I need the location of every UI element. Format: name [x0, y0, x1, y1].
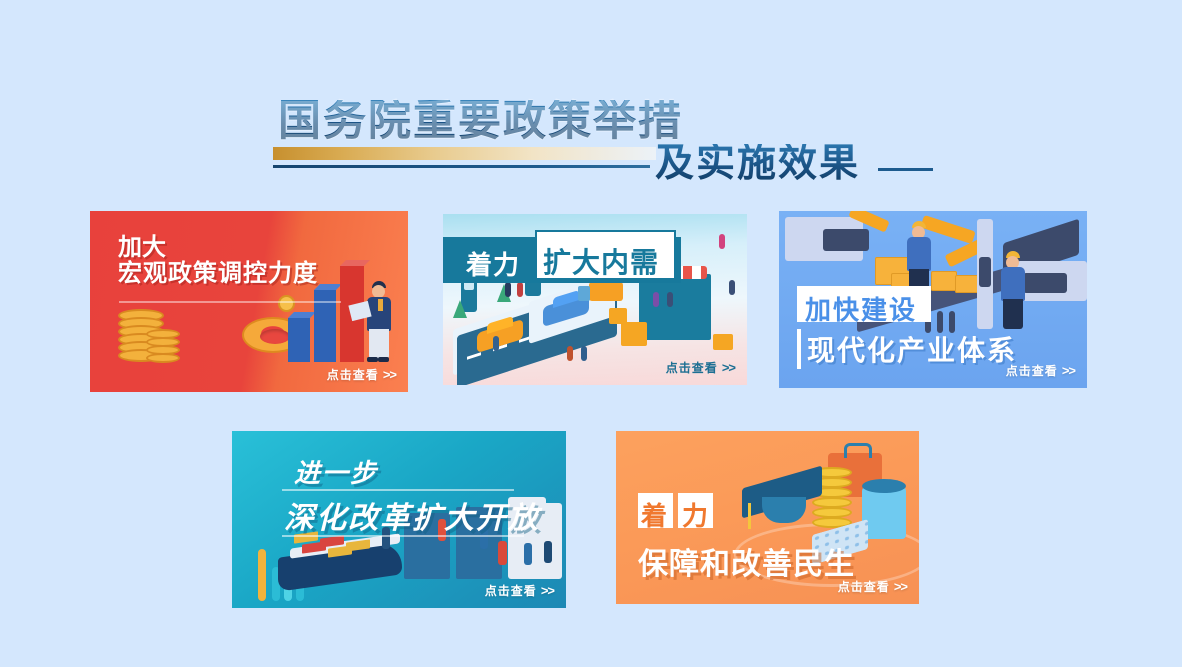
- person-icon-4: [505, 282, 511, 297]
- card-macro-policy[interactable]: 加大 宏观政策调控力度 点击查看>>: [90, 211, 408, 392]
- visitor-icon-4: [498, 541, 507, 565]
- single-coin-icon: [278, 295, 295, 312]
- card-domestic-demand[interactable]: 着力 扩大内需 点击查看>>: [443, 214, 747, 385]
- person-icon-3: [581, 346, 587, 361]
- shop-building: [639, 274, 711, 340]
- card5-title-line1-char2: 力: [682, 496, 708, 533]
- card2-title-line1: 着力: [466, 245, 520, 282]
- person-icon-6: [719, 234, 725, 249]
- graduation-tassel: [748, 503, 751, 529]
- title-tail-dash: [878, 168, 933, 171]
- card-peoples-livelihood[interactable]: 着 力 保障和改善民生 点击查看>>: [616, 431, 919, 604]
- card1-cta-arrow-icon: >>: [383, 367, 396, 382]
- page-title-line1: 国务院重要政策举措: [278, 100, 683, 143]
- card3-title-line1: 加快建设: [805, 290, 917, 327]
- parcel-box-2: [609, 308, 627, 324]
- cnc-screen-right: [1023, 273, 1067, 293]
- card4-title-rule-top: [282, 489, 514, 491]
- person-icon-5: [517, 282, 523, 297]
- card4-title-line1: 进一步: [294, 453, 378, 490]
- person-icon-2: [567, 346, 573, 361]
- card-reform-opening[interactable]: 进一步 深化改革扩大开放 点击查看>>: [232, 431, 566, 608]
- card3-cta-label: 点击查看: [1006, 364, 1058, 378]
- page-root: 国务院重要政策举措 及实施效果: [0, 0, 1182, 667]
- card3-title-accent-bar: [797, 329, 801, 369]
- card4-cta-arrow-icon: >>: [541, 583, 554, 598]
- card5-title-line1-char1: 着: [641, 496, 667, 533]
- delivery-truck-icon: [589, 282, 623, 301]
- card5-cta-label: 点击查看: [838, 580, 890, 594]
- card5-cta-arrow-icon: >>: [894, 579, 907, 594]
- cnc-screen-left: [823, 229, 869, 251]
- medicine-jar-icon: [862, 487, 906, 539]
- page-title-line2: 及实施效果: [655, 144, 860, 183]
- bollard-icon: [258, 549, 266, 601]
- card1-title: 加大 宏观政策调控力度: [118, 235, 318, 287]
- bar-chart-bar-1: [288, 318, 310, 362]
- card4-title-rule-bottom: [282, 535, 524, 537]
- visitor-icon-6: [544, 541, 552, 563]
- card2-cta-arrow-icon: >>: [722, 360, 735, 375]
- card5-title-line2: 保障和改善民生: [638, 539, 855, 583]
- card2-cta[interactable]: 点击查看>>: [666, 359, 735, 376]
- graduation-cap-base: [762, 497, 806, 523]
- card-modern-industry[interactable]: 加快建设 现代化产业体系 点击查看>>: [779, 211, 1087, 388]
- card2-title-line2: 扩大内需: [543, 241, 659, 281]
- card1-title-line2: 宏观政策调控力度: [118, 261, 318, 287]
- crate-3: [931, 271, 957, 291]
- card4-cta[interactable]: 点击查看>>: [485, 582, 554, 599]
- person-icon-8: [653, 292, 659, 307]
- person-icon-1: [493, 336, 499, 351]
- tree-icon-2: [453, 300, 467, 318]
- visitor-icon-5: [524, 543, 532, 565]
- parcel-box-3: [713, 334, 733, 350]
- card4-cta-label: 点击查看: [485, 584, 537, 598]
- title-blue-rule: [273, 165, 650, 168]
- crate-4: [955, 275, 979, 293]
- pillar-panel: [979, 257, 991, 287]
- person-icon-9: [667, 292, 673, 307]
- card3-cta[interactable]: 点击查看>>: [1006, 362, 1075, 379]
- card4-title-line2: 深化改革扩大开放: [284, 493, 540, 537]
- card3-cta-arrow-icon: >>: [1062, 363, 1075, 378]
- card5-cta[interactable]: 点击查看>>: [838, 578, 907, 595]
- card1-cta-label: 点击查看: [327, 368, 379, 382]
- card1-cta[interactable]: 点击查看>>: [327, 366, 396, 383]
- page-header: 国务院重要政策举措 及实施效果: [0, 46, 1182, 161]
- parcel-box-1: [621, 322, 647, 346]
- card1-title-underline: [119, 301, 341, 303]
- card3-title-line2: 现代化产业体系: [807, 329, 1017, 369]
- card1-title-line1: 加大: [118, 235, 318, 261]
- title-gold-underline: [273, 147, 656, 160]
- person-icon-7: [729, 280, 735, 295]
- card2-cta-label: 点击查看: [666, 361, 718, 375]
